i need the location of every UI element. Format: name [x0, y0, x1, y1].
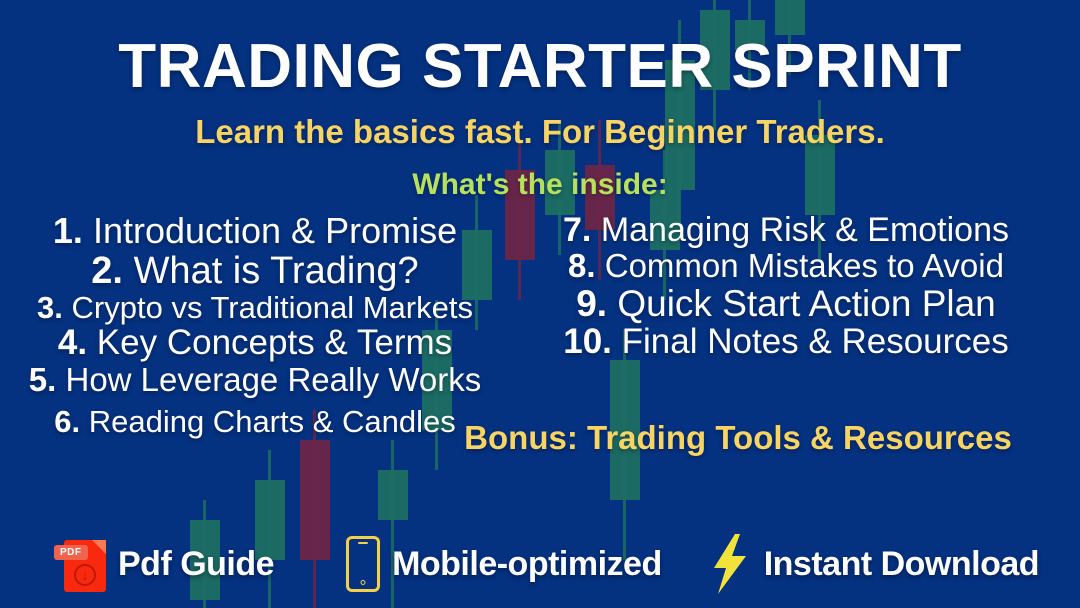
badge-label: Pdf Guide: [118, 545, 274, 584]
list-item: 10. Final Notes & Resources: [496, 323, 1076, 360]
download-arrow-icon: ↓: [74, 564, 96, 586]
list-item-number: 4.: [58, 323, 87, 362]
bonus-line: Bonus: Trading Tools & Resources: [396, 419, 1080, 457]
badge-label: Instant Download: [764, 545, 1039, 584]
inside-heading: What's the inside:: [0, 168, 1080, 201]
list-item-number: 8.: [568, 247, 596, 284]
badge-label: Mobile-optimized: [392, 545, 662, 584]
toc-left-column: 1. Introduction & Promise 2. What is Tra…: [4, 212, 506, 438]
toc-right-column: 7. Managing Risk & Emotions 8. Common Mi…: [496, 212, 1076, 361]
list-item: 2. What is Trading?: [4, 251, 506, 292]
list-item: 7. Managing Risk & Emotions: [496, 212, 1076, 248]
list-item: 5. How Leverage Really Works: [4, 362, 506, 397]
poster-canvas: TRADING STARTER SPRINT Learn the basics …: [0, 0, 1080, 608]
poster-content: TRADING STARTER SPRINT Learn the basics …: [0, 0, 1080, 608]
list-item: 8. Common Mistakes to Avoid: [496, 248, 1076, 283]
list-item-label: Quick Start Action Plan: [617, 283, 995, 324]
list-item-number: 3.: [37, 290, 63, 325]
pdf-tag-label: PDF: [54, 545, 88, 560]
list-item-number: 7.: [563, 211, 591, 249]
list-item-label: Final Notes & Resources: [622, 322, 1009, 361]
list-item-label: Introduction & Promise: [93, 210, 457, 251]
pdf-fold-corner: [92, 540, 106, 554]
list-item-number: 10.: [563, 322, 612, 361]
pdf-file-icon: ↓ PDF: [60, 536, 106, 592]
list-item-number: 6.: [54, 404, 80, 439]
list-item-label: Common Mistakes to Avoid: [605, 247, 1004, 284]
list-item-label: How Leverage Really Works: [65, 361, 481, 398]
list-item: 9. Quick Start Action Plan: [496, 284, 1076, 324]
mobile-phone-icon: [346, 536, 380, 592]
list-item-number: 5.: [29, 361, 57, 398]
list-item-number: 2.: [91, 250, 123, 292]
poster-subtitle: Learn the basics fast. For Beginner Trad…: [0, 114, 1080, 150]
list-item-label: Managing Risk & Emotions: [601, 211, 1009, 249]
badge-instant-download: Instant Download: [708, 534, 1039, 594]
list-item-label: What is Trading?: [134, 250, 419, 292]
page-title: TRADING STARTER SPRINT: [0, 36, 1080, 98]
badge-mobile-optimized: Mobile-optimized: [346, 536, 662, 592]
list-item: 4. Key Concepts & Terms: [4, 324, 506, 361]
list-item: 3. Crypto vs Traditional Markets: [4, 291, 506, 324]
badge-pdf-guide: ↓ PDF Pdf Guide: [60, 536, 274, 592]
lightning-bolt-icon: [708, 534, 752, 594]
list-item-number: 1.: [53, 210, 83, 251]
list-item-number: 9.: [576, 283, 607, 324]
list-item-label: Key Concepts & Terms: [97, 323, 452, 362]
phone-home-button-shape: [361, 580, 366, 585]
feature-badges-row: ↓ PDF Pdf Guide Mobile-optimized Instant…: [0, 528, 1080, 600]
list-item-label: Crypto vs Traditional Markets: [72, 290, 473, 325]
list-item: 1. Introduction & Promise: [4, 212, 506, 251]
phone-speaker-shape: [358, 542, 368, 544]
